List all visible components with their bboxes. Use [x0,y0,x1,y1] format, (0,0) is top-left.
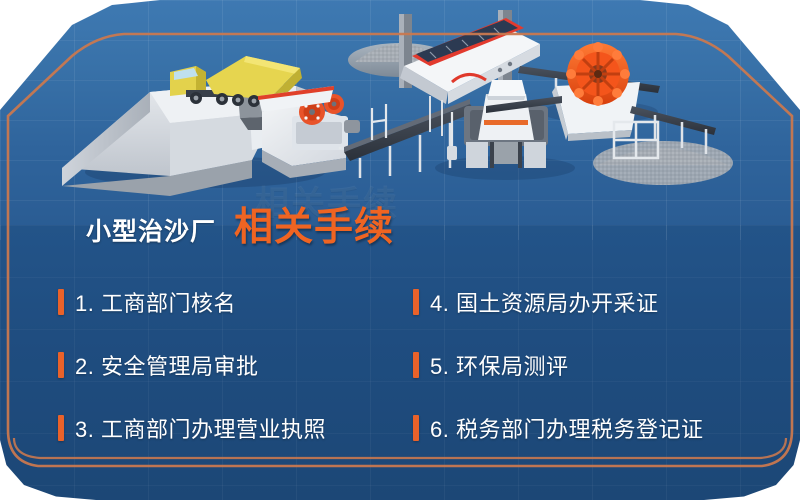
blue-panel: 相关手续 小型治沙厂 相关手续 1. 工商部门核名 4. 国土资源局办开采证 2… [0,0,800,500]
bullet-bar-icon [58,352,64,378]
headline: 小型治沙厂 相关手续 [86,196,394,252]
list-item-label: 1. 工商部门核名 [75,286,236,318]
poster-stage: 相关手续 小型治沙厂 相关手续 1. 工商部门核名 4. 国土资源局办开采证 2… [0,0,800,500]
bullet-bar-icon [58,289,64,315]
bullet-bar-icon [58,415,64,441]
list-item-label: 2. 安全管理局审批 [75,349,258,381]
bullet-bar-icon [413,289,419,315]
list-item: 4. 国土资源局办开采证 [413,270,800,333]
bullet-bar-icon [413,415,419,441]
list-item-label: 5. 环保局测评 [430,349,568,381]
list-item: 2. 安全管理局审批 [58,333,413,396]
list-item: 6. 税务部门办理税务登记证 [413,396,800,459]
list-item: 3. 工商部门办理营业执照 [58,396,413,459]
list-item-label: 6. 税务部门办理税务登记证 [430,412,703,444]
list-item: 1. 工商部门核名 [58,270,413,333]
headline-subtitle: 小型治沙厂 [86,212,216,248]
procedure-list: 1. 工商部门核名 4. 国土资源局办开采证 2. 安全管理局审批 5. 环保局… [0,270,800,459]
headline-title: 相关手续 [234,196,394,252]
list-item: 5. 环保局测评 [413,333,800,396]
list-item-label: 4. 国土资源局办开采证 [430,286,658,318]
list-item-label: 3. 工商部门办理营业执照 [75,412,326,444]
bullet-bar-icon [413,352,419,378]
